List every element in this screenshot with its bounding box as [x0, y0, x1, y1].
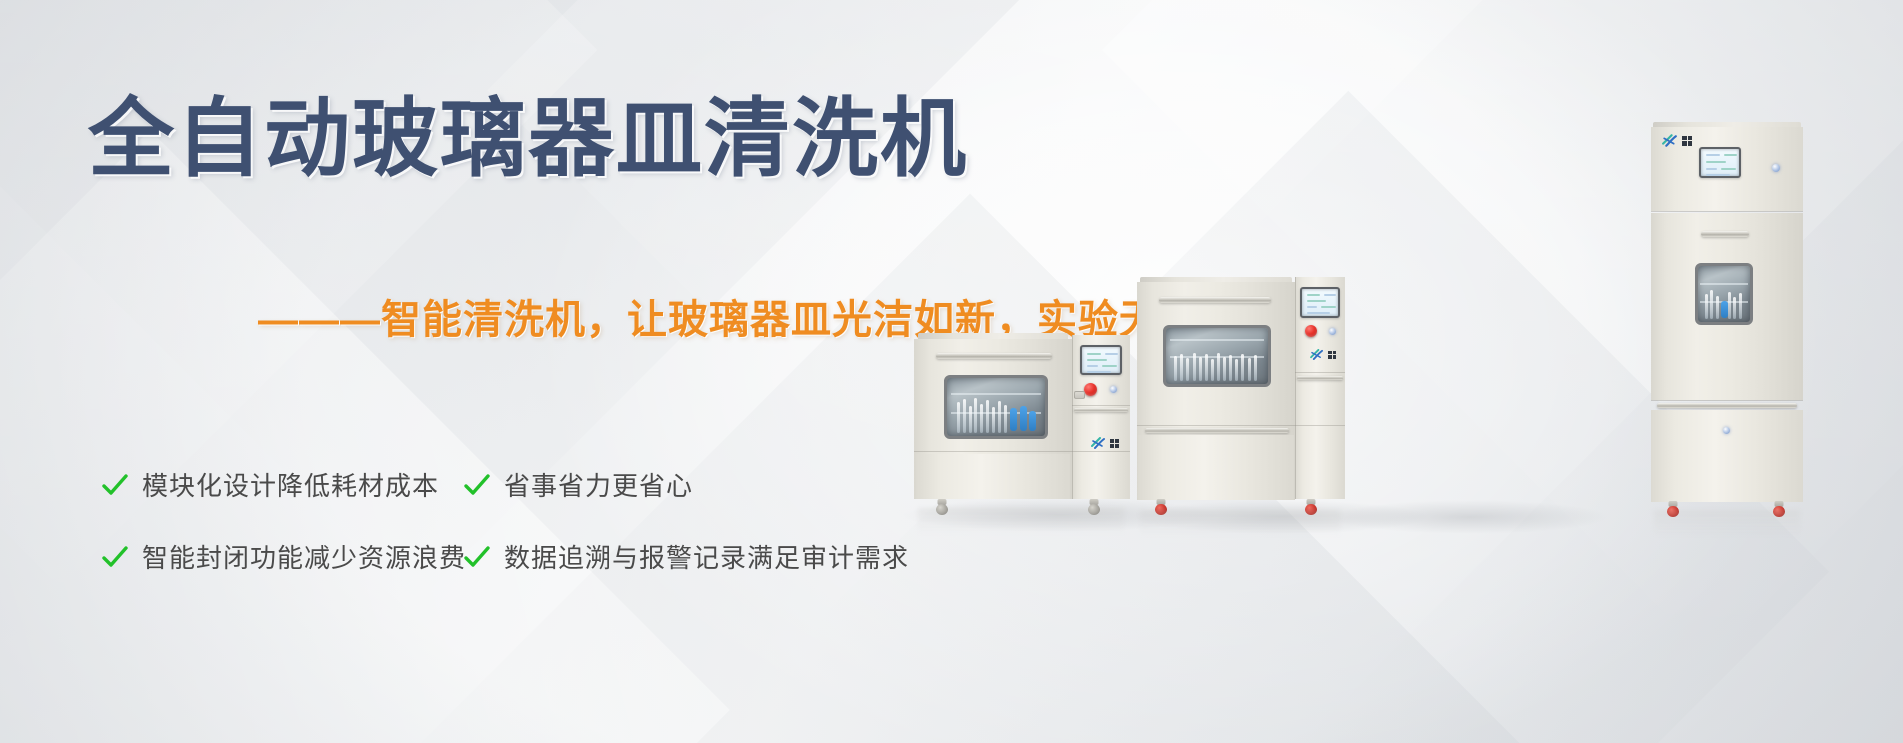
touchscreen-display[interactable] [1300, 287, 1340, 318]
glassware-load [947, 378, 1045, 436]
nameplate [1074, 391, 1085, 399]
status-indicator [1329, 328, 1336, 335]
panel-seam [1072, 405, 1130, 406]
product-photo-group [0, 0, 1903, 743]
lower-door-handle[interactable] [1657, 403, 1797, 408]
brand-logo [1309, 349, 1336, 360]
brand-logo [1090, 437, 1119, 449]
emergency-stop-button[interactable] [1084, 383, 1097, 396]
emergency-stop-button[interactable] [1305, 325, 1317, 337]
machine-lower-door [1651, 410, 1803, 502]
door-handle[interactable] [1159, 297, 1271, 303]
panel-seam [1295, 372, 1345, 373]
logo-grid-icon [1328, 351, 1336, 359]
door-handle[interactable] [936, 353, 1052, 359]
panel-seam [1651, 211, 1803, 212]
drawer-handle[interactable] [1297, 376, 1343, 380]
logo-mark-icon [1661, 134, 1679, 147]
panel-seam [1137, 425, 1345, 426]
product-tall-column-glassware-washer [1651, 122, 1803, 510]
floor-reflection [918, 508, 1124, 534]
touchscreen-display[interactable] [1699, 147, 1741, 178]
floor-reflection [1654, 510, 1800, 536]
drawer-handle[interactable] [1145, 428, 1289, 433]
touchscreen-display[interactable] [1080, 345, 1122, 375]
viewing-window [944, 375, 1048, 439]
panel-seam [1651, 400, 1803, 401]
status-indicator [1772, 164, 1780, 172]
brand-logo [1661, 134, 1692, 147]
logo-grid-icon [1110, 439, 1119, 448]
machine-lower-door [1138, 435, 1294, 500]
floor-reflection [1140, 510, 1340, 536]
panel-seam [914, 451, 1130, 452]
machine-lower-door [916, 454, 1070, 499]
panel-seam [1295, 277, 1296, 499]
product-undercounter-glassware-washer [914, 333, 1130, 508]
product-shadow [1330, 500, 1610, 534]
logo-mark-icon [1309, 349, 1325, 360]
product-freestanding-glassware-washer [1137, 277, 1345, 509]
glassware-load [1698, 266, 1750, 322]
logo-grid-icon [1682, 136, 1692, 146]
product-hero-banner: 全自动玻璃器皿清洗机 ———智能清洗机，让玻璃器皿光洁如新，实验无忧！ 模块化设… [0, 0, 1903, 743]
door-lock-indicator [1723, 427, 1730, 434]
viewing-window [1695, 263, 1753, 325]
drawer-handle[interactable] [1074, 408, 1128, 412]
status-indicator [1110, 386, 1117, 393]
door-handle[interactable] [1701, 231, 1749, 237]
glassware-load [1166, 328, 1268, 384]
panel-seam [1072, 335, 1073, 499]
logo-mark-icon [1090, 437, 1107, 449]
viewing-window [1163, 325, 1271, 387]
